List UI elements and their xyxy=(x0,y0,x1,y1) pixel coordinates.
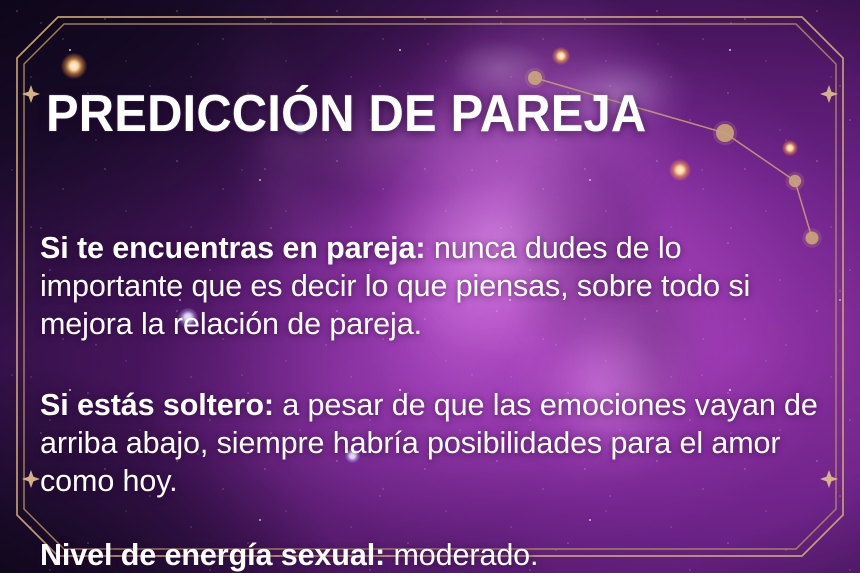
page-title: PREDICCIÓN DE PAREJA xyxy=(46,88,646,140)
paragraph-energia-text: moderado. xyxy=(385,538,538,572)
paragraph-pareja-lead: Si te encuentras en pareja: xyxy=(40,231,425,265)
card-content: PREDICCIÓN DE PAREJA Si te encuentras en… xyxy=(0,0,860,573)
paragraph-soltero: Si estás soltero: a pesar de que las emo… xyxy=(40,386,830,500)
paragraph-energia-lead: Nivel de energía sexual: xyxy=(40,538,385,572)
paragraph-pareja: Si te encuentras en pareja: nunca dudes … xyxy=(40,229,830,343)
paragraph-soltero-lead: Si estás soltero: xyxy=(40,388,274,422)
paragraph-energia: Nivel de energía sexual: moderado. xyxy=(40,536,830,573)
horoscope-prediction-card: PREDICCIÓN DE PAREJA Si te encuentras en… xyxy=(0,0,860,573)
